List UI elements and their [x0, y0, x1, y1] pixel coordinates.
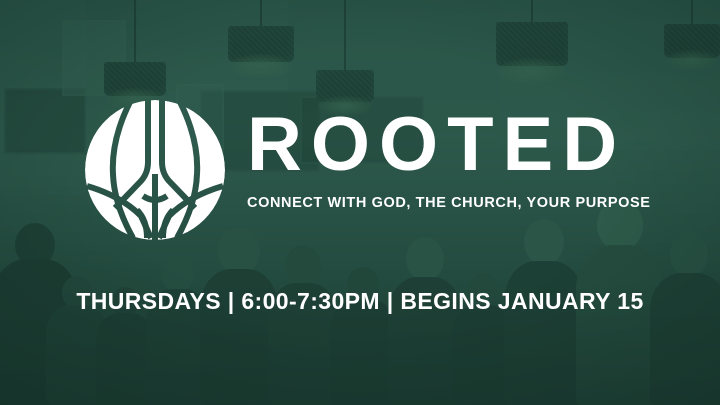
poster-content: ROOTED CONNECT WITH GOD, THE CHURCH, YOU…: [0, 0, 720, 405]
rooted-promo-poster: ROOTED CONNECT WITH GOD, THE CHURCH, YOU…: [0, 0, 720, 405]
brand-tagline: CONNECT WITH GOD, THE CHURCH, YOUR PURPO…: [247, 195, 653, 211]
rooted-circle-logo-icon: [85, 100, 225, 240]
schedule-line: THURSDAYS | 6:00-7:30PM | BEGINS JANUARY…: [0, 288, 720, 315]
brand-wordmark: ROOTED: [247, 114, 653, 176]
logo-lockup: ROOTED CONNECT WITH GOD, THE CHURCH, YOU…: [85, 100, 653, 240]
wordmark-block: ROOTED CONNECT WITH GOD, THE CHURCH, YOU…: [247, 100, 653, 211]
